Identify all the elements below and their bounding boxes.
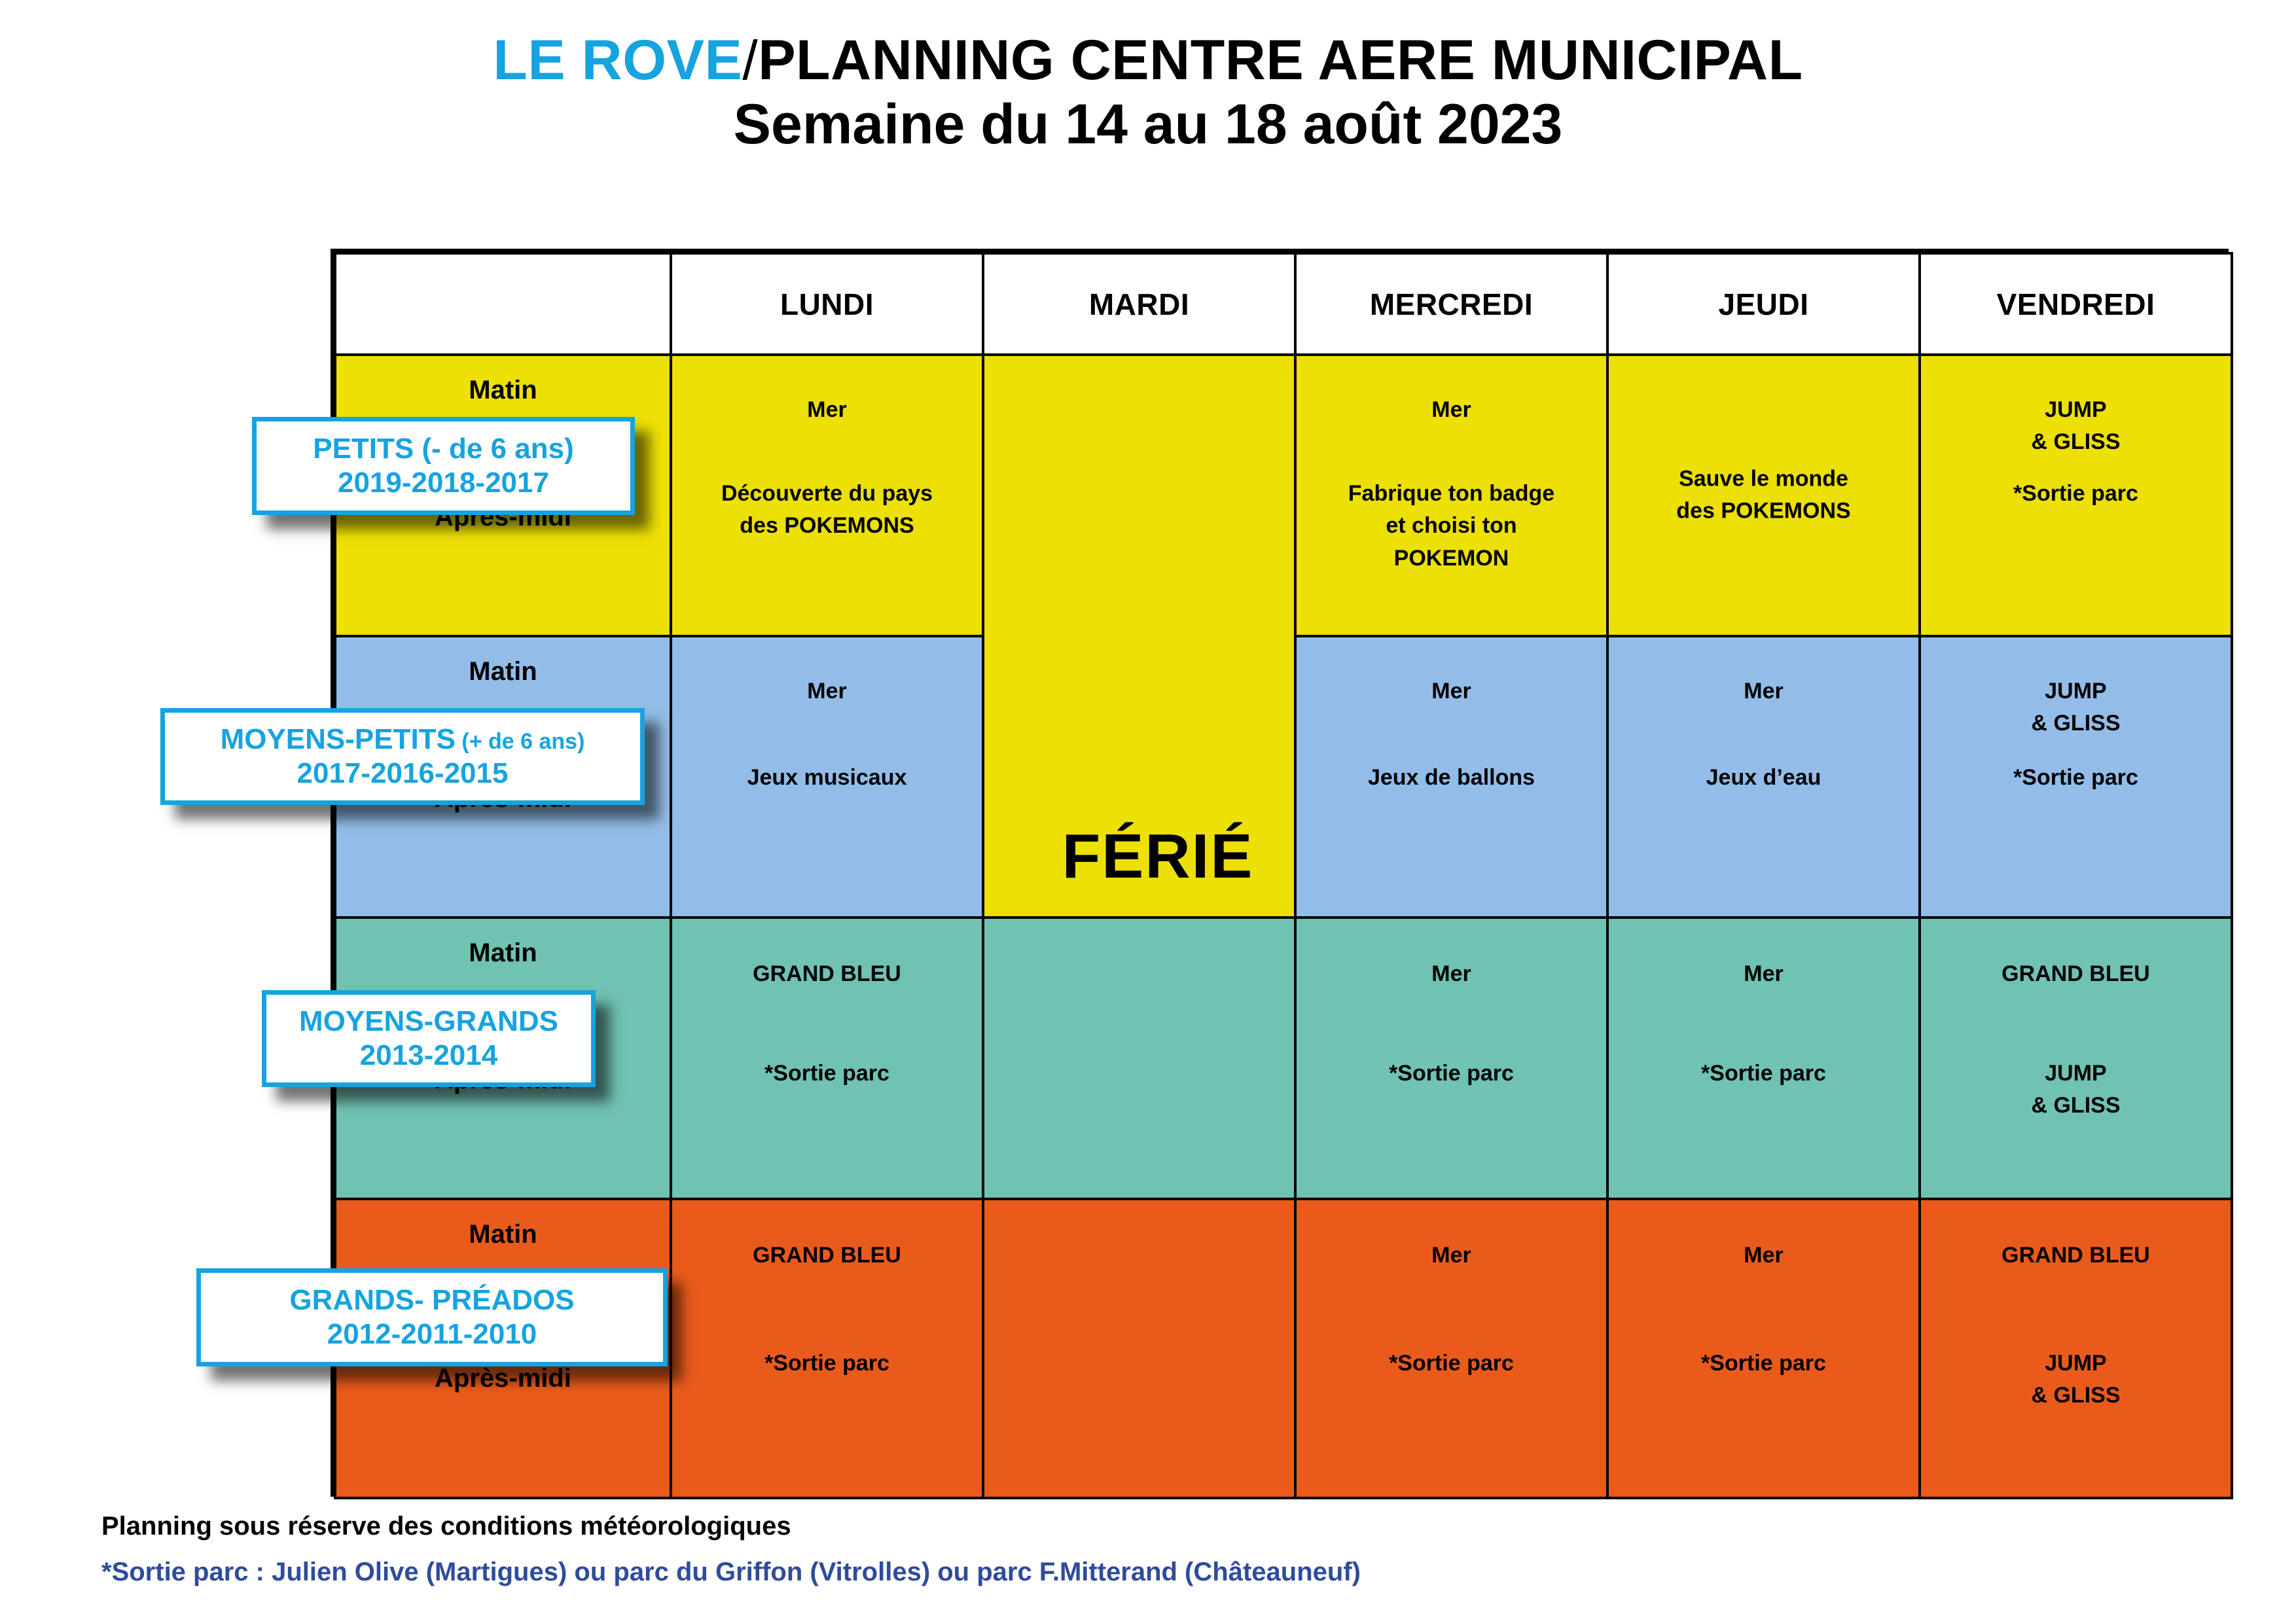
cell-ferie-mardi <box>983 355 1295 918</box>
cell-grands-preados-mardi[interactable] <box>983 1199 1295 1498</box>
title-subtitle: Semaine du 14 au 18 août 2023 <box>0 94 2296 156</box>
callout-group-name: MOYENS-GRANDS <box>299 1005 558 1037</box>
cell-fullday-text: Sauve le mondedes POKEMONS <box>1613 463 1914 528</box>
cell-afternoon-text: JUMP& GLISS <box>1925 1347 2227 1412</box>
day-header-mardi: MARDI <box>983 253 1295 355</box>
callout-group-age: (- de 6 ans) <box>414 433 574 465</box>
cell-moyens-grands-mercredi[interactable]: Mer *Sortie parc <box>1295 918 1607 1199</box>
cell-moyens-grands-lundi[interactable]: GRAND BLEU *Sortie parc <box>671 918 983 1199</box>
cell-grands-preados-lundi[interactable]: GRAND BLEU *Sortie parc <box>671 1199 983 1498</box>
cell-morning-text: GRAND BLEU <box>676 958 978 990</box>
cell-afternoon-text: Jeux de ballons <box>1300 762 1602 794</box>
cell-morning-text: Mer <box>1300 675 1602 707</box>
slot-label-matin: Matin <box>336 1220 670 1249</box>
day-header-jeudi: JEUDI <box>1607 253 1920 355</box>
day-header-lundi: LUNDI <box>671 253 983 355</box>
cell-morning-text: JUMP& GLISS <box>1925 394 2227 459</box>
callout-group-name: PETITS <box>313 433 414 465</box>
day-header-label: VENDREDI <box>1997 287 2155 321</box>
cell-moyens-petits-vendredi[interactable]: JUMP& GLISS *Sortie parc <box>1920 636 2232 918</box>
table-corner-cell <box>335 253 671 355</box>
cell-grands-preados-vendredi[interactable]: GRAND BLEU JUMP& GLISS <box>1920 1199 2232 1498</box>
cell-petits-lundi[interactable]: Mer Découverte du paysdes POKEMONS <box>671 355 983 636</box>
cell-afternoon-text: *Sortie parc <box>1300 1058 1602 1090</box>
group-callout-moyens-petits[interactable]: MOYENS-PETITS (+ de 6 ans) 2017-2016-201… <box>160 708 645 805</box>
callout-years: 2013-2014 <box>360 1039 497 1073</box>
cell-afternoon-text: *Sortie parc <box>1925 478 2227 510</box>
group-callout-moyens-grands[interactable]: MOYENS-GRANDS 2013-2014 <box>262 990 596 1087</box>
cell-moyens-grands-jeudi[interactable]: Mer *Sortie parc <box>1607 918 1920 1199</box>
page-title: LE ROVE/PLANNING CENTRE AERE MUNICIPAL S… <box>0 30 2296 155</box>
cell-moyens-grands-mardi[interactable] <box>983 918 1295 1199</box>
planning-page: LE ROVE/PLANNING CENTRE AERE MUNICIPAL S… <box>0 0 2296 1623</box>
callout-years: 2017-2016-2015 <box>297 757 509 791</box>
cell-petits-jeudi[interactable]: Sauve le mondedes POKEMONS <box>1607 355 1920 636</box>
cell-petits-mercredi[interactable]: Mer Fabrique ton badgeet choisi tonPOKEM… <box>1295 355 1607 636</box>
cell-petits-vendredi[interactable]: JUMP& GLISS *Sortie parc <box>1920 355 2232 636</box>
day-header-mercredi: MERCREDI <box>1295 253 1607 355</box>
cell-morning-text: Mer <box>1300 958 1602 990</box>
cell-morning-text: Mer <box>1613 675 1914 707</box>
cell-moyens-petits-lundi[interactable]: Mer Jeux musicaux <box>671 636 983 918</box>
cell-morning-text: GRAND BLEU <box>1925 1240 2227 1272</box>
cell-moyens-grands-vendredi[interactable]: GRAND BLEU JUMP& GLISS <box>1920 918 2232 1199</box>
day-header-vendredi: VENDREDI <box>1920 253 2232 355</box>
callout-title-line: MOYENS-PETITS (+ de 6 ans) <box>221 722 585 757</box>
cell-afternoon-text: Jeux musicaux <box>676 762 978 794</box>
cell-afternoon-text: *Sortie parc <box>1300 1347 1602 1380</box>
slot-label-apres-midi: Après-midi <box>336 1364 670 1393</box>
cell-moyens-petits-mercredi[interactable]: Mer Jeux de ballons <box>1295 636 1607 918</box>
cell-morning-text: Mer <box>1613 958 1914 990</box>
cell-afternoon-text: Jeux d’eau <box>1613 762 1914 794</box>
callout-years: 2012-2011-2010 <box>327 1317 537 1351</box>
cell-afternoon-text: *Sortie parc <box>1925 762 2227 794</box>
title-main-line: LE ROVE/PLANNING CENTRE AERE MUNICIPAL <box>0 30 2296 91</box>
cell-morning-text: GRAND BLEU <box>1925 958 2227 990</box>
cell-afternoon-text: JUMP& GLISS <box>1925 1058 2227 1122</box>
day-header-label: JEUDI <box>1719 287 1809 321</box>
slot-label-matin: Matin <box>336 657 670 687</box>
callout-group-name: MOYENS-PETITS <box>221 723 456 755</box>
group-callout-petits[interactable]: PETITS (- de 6 ans) 2019-2018-2017 <box>252 417 635 515</box>
footer-weather-note: Planning sous réserve des conditions mét… <box>101 1507 2130 1545</box>
title-separator: / <box>742 29 758 91</box>
title-rest: PLANNING CENTRE AERE MUNICIPAL <box>758 29 1803 92</box>
footer-sortie-parc-note: *Sortie parc : Julien Olive (Martigues) … <box>101 1553 2130 1591</box>
table-header-row: LUNDI MARDI MERCREDI JEUDI VENDREDI <box>335 253 2232 355</box>
footer-notes: Planning sous réserve des conditions mét… <box>101 1507 2130 1591</box>
cell-afternoon-text: Fabrique ton badgeet choisi tonPOKEMON <box>1300 478 1602 575</box>
cell-morning-text: Mer <box>676 394 978 426</box>
cell-moyens-petits-jeudi[interactable]: Mer Jeux d’eau <box>1607 636 1920 918</box>
slot-label-matin: Matin <box>336 376 670 405</box>
callout-title-line: GRANDS- PRÉADOS <box>289 1283 574 1317</box>
group-row-moyens-grands: Matin Après-midi GRAND BLEU *Sortie parc <box>335 918 2232 1199</box>
callout-title-line: PETITS (- de 6 ans) <box>313 432 574 466</box>
cell-morning-text: Mer <box>1613 1240 1914 1272</box>
cell-afternoon-text: *Sortie parc <box>1613 1347 1914 1380</box>
day-header-label: MERCREDI <box>1370 287 1533 321</box>
day-header-label: MARDI <box>1089 287 1189 321</box>
cell-afternoon-text: Découverte du paysdes POKEMONS <box>676 478 978 543</box>
cell-grands-preados-jeudi[interactable]: Mer *Sortie parc <box>1607 1199 1920 1498</box>
cell-morning-text: Mer <box>1300 1240 1602 1272</box>
callout-title-line: MOYENS-GRANDS <box>299 1005 558 1039</box>
cell-morning-text: GRAND BLEU <box>676 1240 978 1272</box>
cell-morning-text: Mer <box>1300 394 1602 426</box>
cell-grands-preados-mercredi[interactable]: Mer *Sortie parc <box>1295 1199 1607 1498</box>
cell-morning-text: Mer <box>676 675 978 707</box>
day-header-label: LUNDI <box>780 287 874 321</box>
callout-group-age: (+ de 6 ans) <box>456 729 584 754</box>
callout-group-name: GRANDS- PRÉADOS <box>289 1284 574 1316</box>
cell-afternoon-text: *Sortie parc <box>1613 1058 1914 1090</box>
cell-afternoon-text: *Sortie parc <box>676 1058 978 1090</box>
slot-label-matin: Matin <box>336 938 670 968</box>
brand-name: LE ROVE <box>493 29 742 92</box>
group-callout-grands-preados[interactable]: GRANDS- PRÉADOS 2012-2011-2010 <box>196 1268 668 1366</box>
callout-years: 2019-2018-2017 <box>338 466 549 500</box>
cell-afternoon-text: *Sortie parc <box>676 1347 978 1380</box>
cell-morning-text: JUMP& GLISS <box>1925 675 2227 740</box>
